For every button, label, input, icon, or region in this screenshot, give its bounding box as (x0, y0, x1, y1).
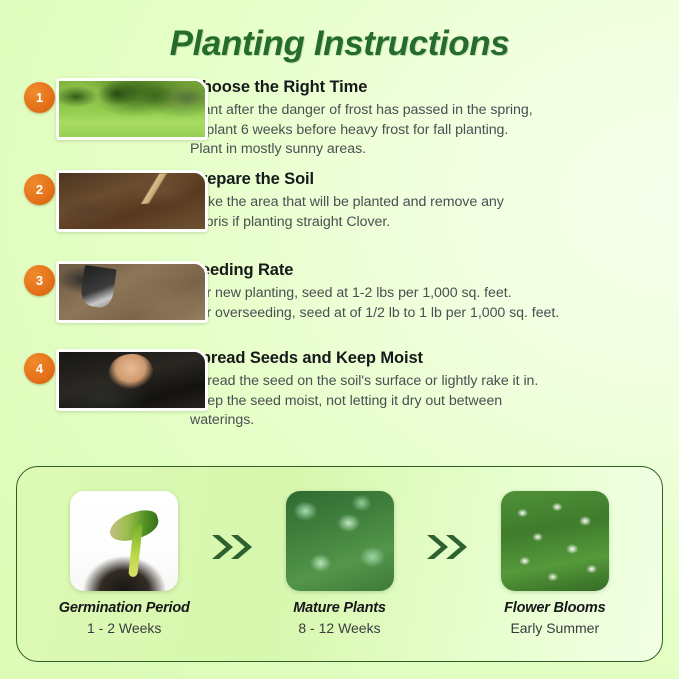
step-item-4: 4 Spread Seeds and Keep Moist Spread the… (0, 349, 679, 441)
step-4-line-3: waterings. (190, 411, 667, 431)
step-2-line-2: debris if planting straight Clover. (190, 213, 667, 233)
germination-label: Germination Period (43, 599, 205, 617)
step-1-image (56, 78, 208, 140)
step-4-title: Spread Seeds and Keep Moist (190, 349, 667, 368)
germination-card (70, 491, 178, 591)
step-3-title: Seeding Rate (190, 261, 667, 280)
step-2-description: Rake the area that will be planted and r… (190, 193, 667, 232)
timeline-stage-mature: Mature Plants 8 - 12 Weeks (258, 491, 420, 637)
step-2-title: Prepare the Soil (190, 170, 667, 189)
rake-on-soil-image (59, 173, 205, 229)
step-item-1: 1 Choose the Right Time Plant after the … (0, 78, 679, 170)
page-title: Planting Instructions (0, 24, 679, 64)
step-4-number-badge: 4 (24, 353, 55, 384)
step-2-thumbnail-wrap: 2 (0, 170, 190, 232)
step-2-body: Prepare the Soil Rake the area that will… (190, 170, 679, 232)
step-3-line-1: For new planting, seed at 1-2 lbs per 1,… (190, 284, 667, 304)
step-4-line-2: Keep the seed moist, not letting it dry … (190, 392, 667, 412)
step-2-number-badge: 2 (24, 174, 55, 205)
double-chevron-right-icon-1 (205, 532, 258, 562)
step-3-line-2: For overseeding, seed at of 1/2 lb to 1 … (190, 304, 667, 324)
step-3-number-badge: 3 (24, 265, 55, 296)
double-chevron-right-icon-2 (421, 532, 474, 562)
clover-leaves-image (286, 491, 394, 591)
flower-blooms-label: Flower Blooms (474, 599, 636, 617)
germination-duration: 1 - 2 Weeks (43, 619, 205, 637)
step-4-description: Spread the seed on the soil's surface or… (190, 372, 667, 431)
timeline-row: Germination Period 1 - 2 Weeks Mature Pl… (17, 467, 662, 661)
step-2-image (56, 170, 208, 232)
flower-blooms-card (501, 491, 609, 591)
mature-plants-label: Mature Plants (258, 599, 420, 617)
step-3-description: For new planting, seed at 1-2 lbs per 1,… (190, 284, 667, 323)
flower-blooms-duration: Early Summer (474, 619, 636, 637)
white-clover-flowers-image (501, 491, 609, 591)
infographic-page: Planting Instructions 1 Choose the Right… (0, 0, 679, 679)
step-4-body: Spread Seeds and Keep Moist Spread the s… (190, 349, 679, 431)
step-1-number-badge: 1 (24, 82, 55, 113)
step-item-2: 2 Prepare the Soil Rake the area that wi… (0, 170, 679, 261)
timeline-stage-germination: Germination Period 1 - 2 Weeks (43, 491, 205, 637)
lawn-with-willow-tree-image (59, 81, 205, 137)
step-3-body: Seeding Rate For new planting, seed at 1… (190, 261, 679, 323)
step-1-description: Plant after the danger of frost has pass… (190, 101, 667, 160)
step-4-image (56, 349, 208, 411)
step-2-line-1: Rake the area that will be planted and r… (190, 193, 667, 213)
hand-sowing-seeds-image (59, 352, 205, 408)
shovel-digging-soil-image (59, 264, 205, 320)
step-4-line-1: Spread the seed on the soil's surface or… (190, 372, 667, 392)
step-1-body: Choose the Right Time Plant after the da… (190, 78, 679, 160)
step-3-thumbnail-wrap: 3 (0, 261, 190, 323)
steps-list: 1 Choose the Right Time Plant after the … (0, 78, 679, 441)
mature-plants-duration: 8 - 12 Weeks (258, 619, 420, 637)
step-3-image (56, 261, 208, 323)
growth-timeline-panel: Germination Period 1 - 2 Weeks Mature Pl… (16, 466, 663, 662)
step-1-thumbnail-wrap: 1 (0, 78, 190, 140)
timeline-stage-bloom: Flower Blooms Early Summer (474, 491, 636, 637)
step-1-line-1: Plant after the danger of frost has pass… (190, 101, 667, 121)
sprout-leaf-shape (106, 507, 161, 546)
step-1-line-2: or plant 6 weeks before heavy frost for … (190, 121, 667, 141)
step-1-line-3: Plant in mostly sunny areas. (190, 140, 667, 160)
mature-plants-card (286, 491, 394, 591)
seedling-sprout-image (70, 491, 178, 591)
step-4-thumbnail-wrap: 4 (0, 349, 190, 411)
step-1-title: Choose the Right Time (190, 78, 667, 97)
step-item-3: 3 Seeding Rate For new planting, seed at… (0, 261, 679, 349)
